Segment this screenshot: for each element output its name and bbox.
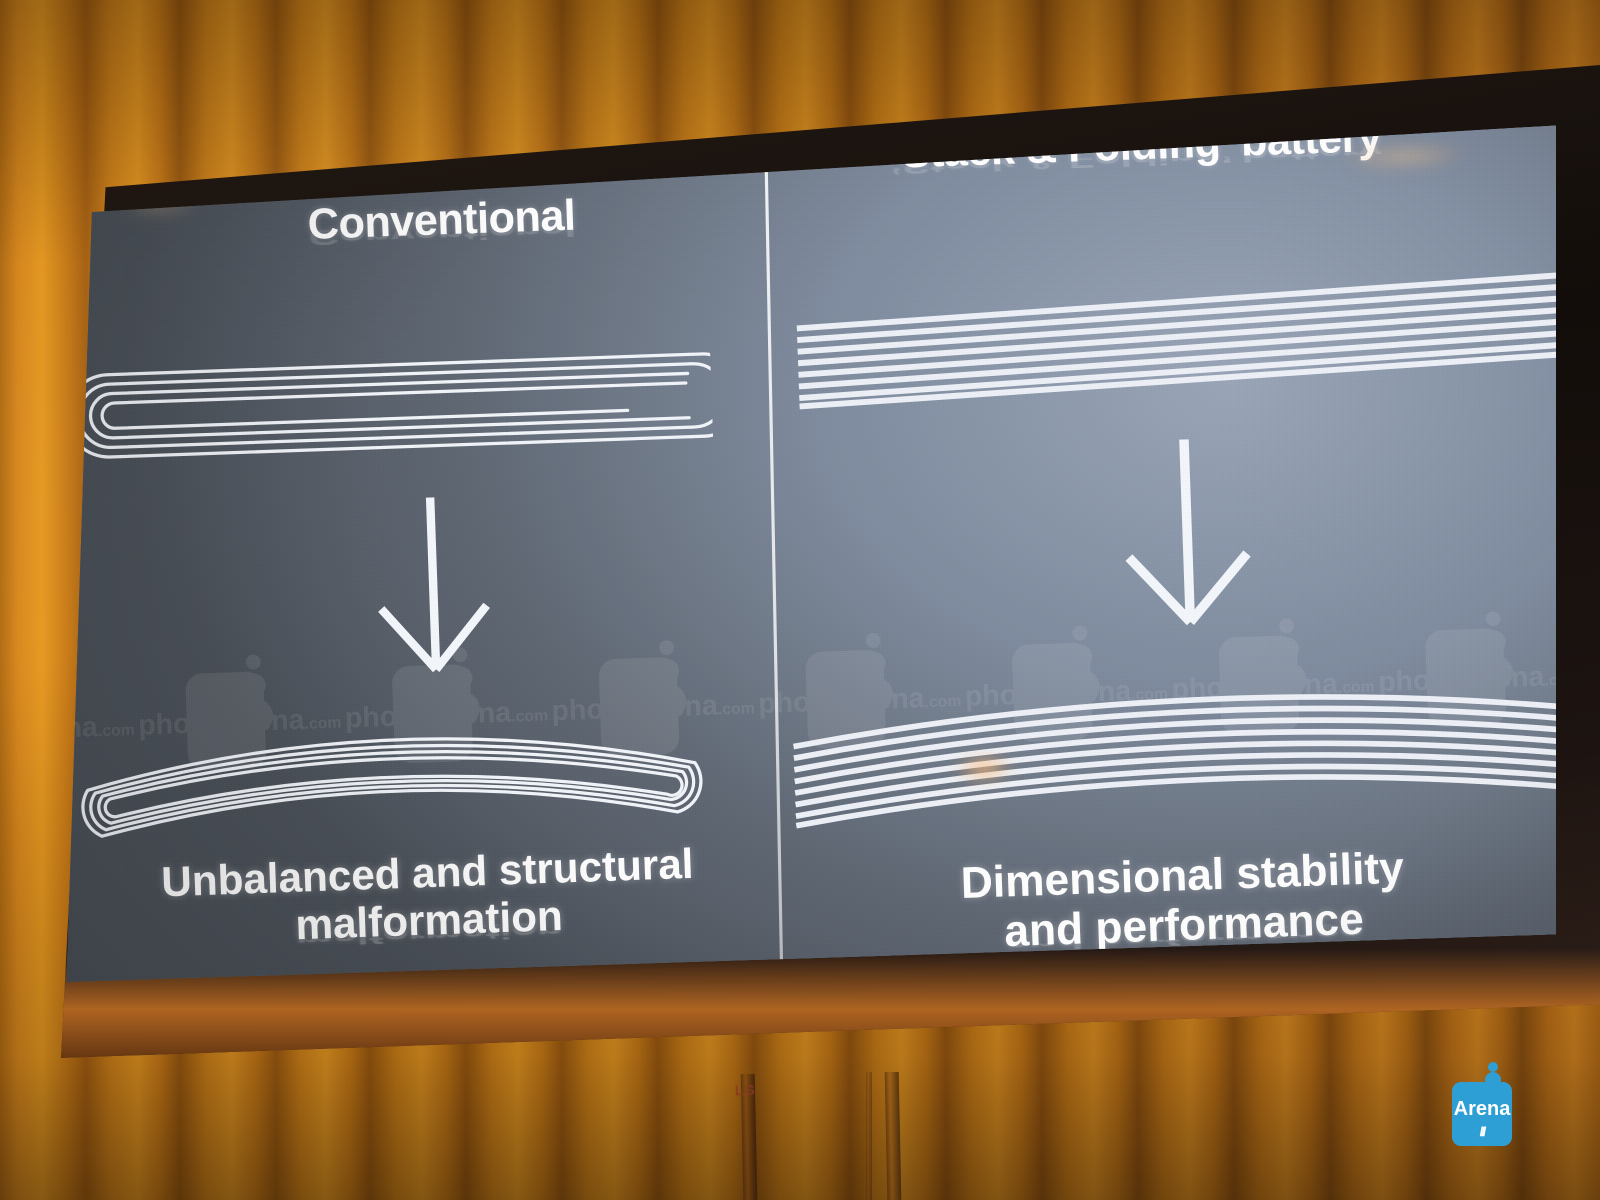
stack-folding-curved-layers-diagram (784, 674, 1556, 829)
right-panel-down-arrow (1114, 431, 1258, 631)
tv-stand-leg-middle (866, 1072, 872, 1200)
tv-stand-leg-right (885, 1072, 902, 1200)
panel-divider (764, 122, 784, 988)
lg-brand-logo: LG (735, 1082, 756, 1099)
logo-dot-small-icon (1488, 1062, 1498, 1072)
left-panel-title: Conventional Conventional (198, 187, 687, 304)
left-panel-down-arrow (367, 489, 500, 678)
logo-label: Arena (1452, 1098, 1512, 1121)
conventional-deformed-coil-diagram (62, 704, 737, 844)
photo-scene: LG phoneArena.com /// phoneArena.com ///… (0, 0, 1600, 1200)
presentation-slide: phoneArena.com /// phoneArena.com /// ph… (62, 122, 1556, 988)
tv-screen: phoneArena.com /// phoneArena.com /// ph… (62, 122, 1556, 988)
logo-tick: /// (1452, 1124, 1512, 1139)
phonearena-corner-logo: Arena /// (1452, 1062, 1514, 1146)
stack-folding-flat-layers-diagram (787, 269, 1556, 411)
conventional-flat-coil-diagram (62, 346, 713, 466)
